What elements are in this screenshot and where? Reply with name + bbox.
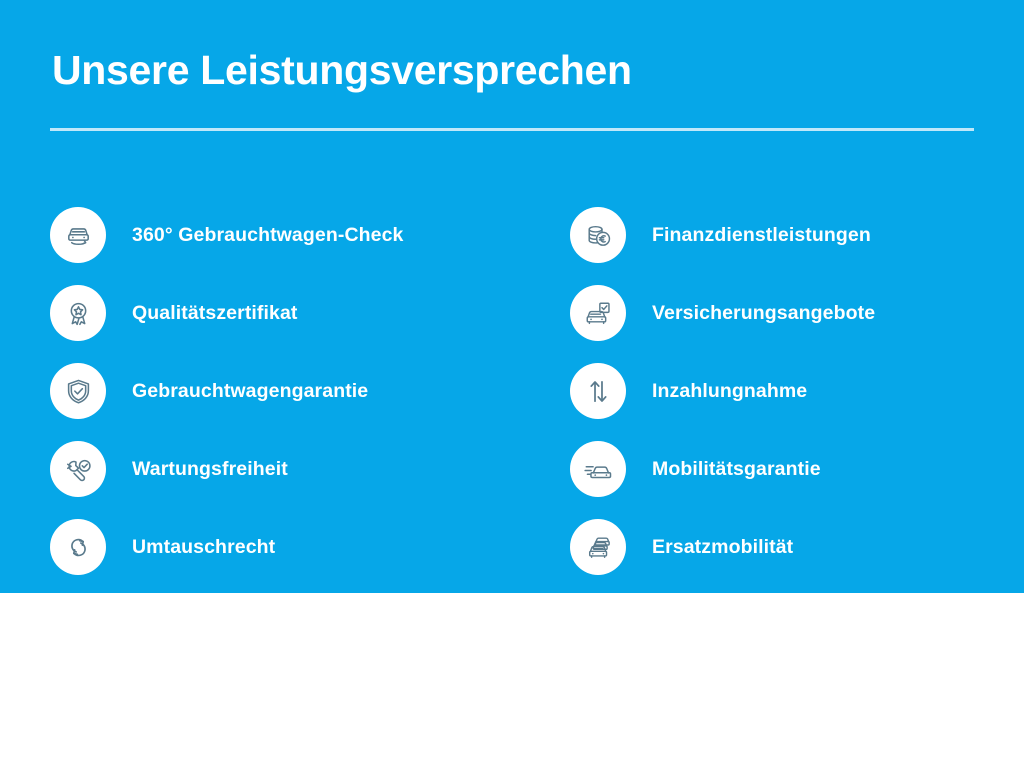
list-item: Wartungsfreiheit (50, 430, 520, 508)
stacked-cars-icon (570, 519, 626, 575)
list-item-label: Inzahlungnahme (652, 380, 807, 403)
list-item-label: Wartungsfreiheit (132, 458, 288, 481)
car-document-check-icon (570, 285, 626, 341)
list-item: Inzahlungnahme (570, 352, 1000, 430)
list-item-label: Mobilitätsgarantie (652, 458, 821, 481)
list-item: Umtauschrecht (50, 508, 520, 586)
up-down-arrows-icon (570, 363, 626, 419)
coins-euro-icon (570, 207, 626, 263)
list-item: Ersatzmobilität (570, 508, 1000, 586)
car-360-check-icon (50, 207, 106, 263)
list-item-label: Gebrauchtwagengarantie (132, 380, 368, 403)
list-item-label: Ersatzmobilität (652, 536, 793, 559)
benefits-left-column: 360° Gebrauchtwagen-Check Qualitätszerti… (50, 196, 520, 586)
list-item-label: Finanzdienstleistungen (652, 224, 871, 247)
exchange-arrows-icon (50, 519, 106, 575)
list-item: Mobilitätsgarantie (570, 430, 1000, 508)
list-item-label: Versicherungsangebote (652, 302, 875, 325)
page-title: Unsere Leistungsversprechen (52, 48, 632, 93)
list-item: Qualitätszertifikat (50, 274, 520, 352)
list-item: 360° Gebrauchtwagen-Check (50, 196, 520, 274)
benefits-right-column: Finanzdienstleistungen (570, 196, 1000, 586)
list-item: Versicherungsangebote (570, 274, 1000, 352)
award-rosette-icon (50, 285, 106, 341)
promo-page: Unsere Leistungsversprechen (0, 0, 1024, 768)
list-item: Finanzdienstleistungen (570, 196, 1000, 274)
list-item: Gebrauchtwagengarantie (50, 352, 520, 430)
list-item-label: Umtauschrecht (132, 536, 275, 559)
list-item-label: Qualitätszertifikat (132, 302, 298, 325)
benefits-columns: 360° Gebrauchtwagen-Check Qualitätszerti… (0, 196, 1024, 586)
title-divider (50, 128, 974, 131)
wrench-check-icon (50, 441, 106, 497)
footer: VOETS MAGDEBURG HOHE Zertifizierte Gebra… (0, 593, 1024, 768)
shield-check-icon (50, 363, 106, 419)
benefits-panel: Unsere Leistungsversprechen (0, 0, 1024, 593)
car-motion-icon (570, 441, 626, 497)
list-item-label: 360° Gebrauchtwagen-Check (132, 224, 403, 247)
